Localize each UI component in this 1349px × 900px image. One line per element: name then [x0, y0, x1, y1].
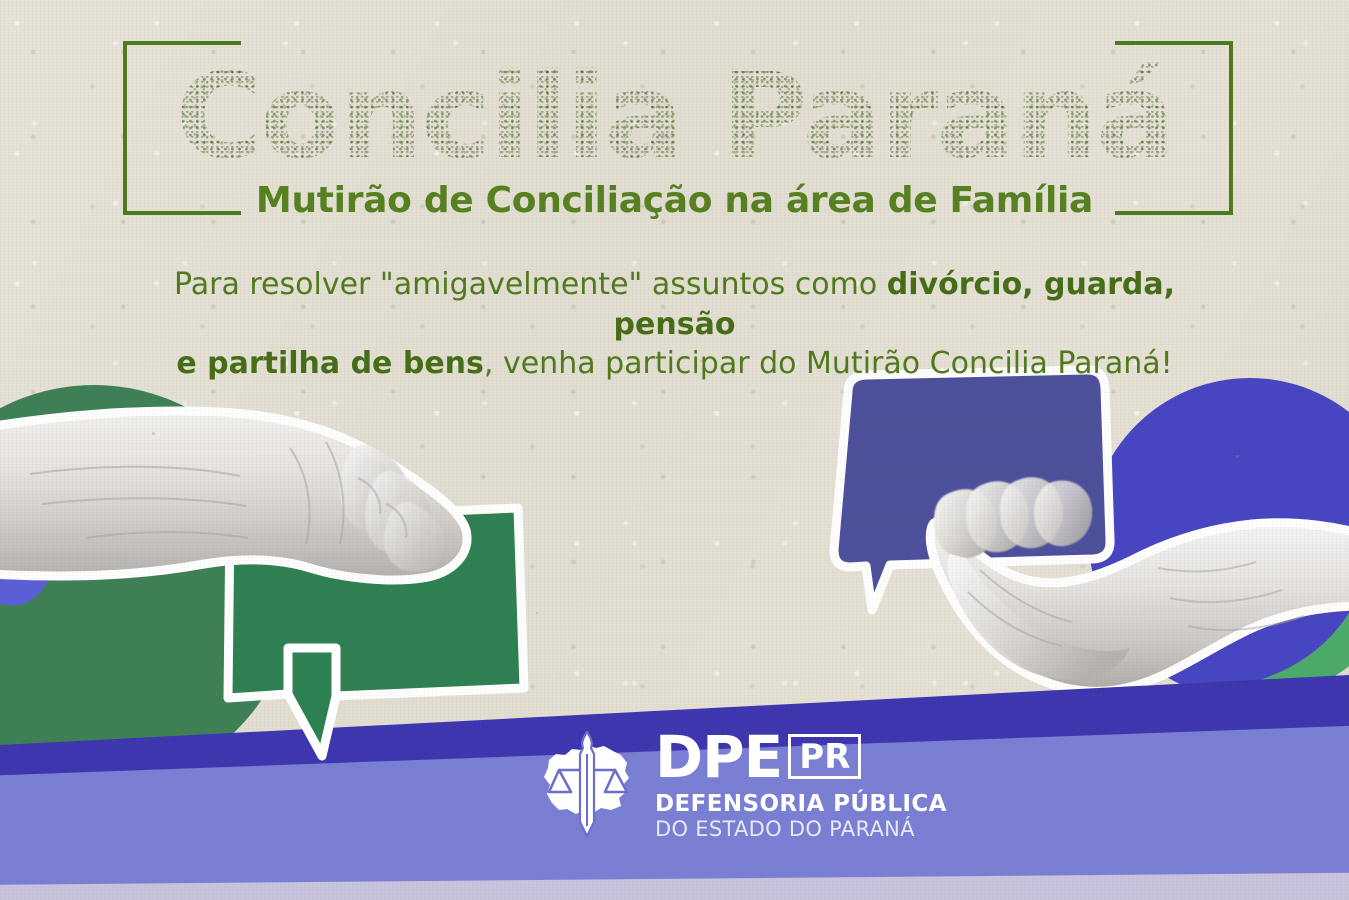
page-subtitle: Mutirão de Conciliação na área de Famíli…	[0, 180, 1349, 221]
body-line2-bold: e partilha de bens	[176, 346, 484, 381]
body-line2-post: , venha participar do Mutirão Concilia P…	[484, 346, 1173, 381]
paper-speck	[152, 432, 155, 435]
dpe-logo: DPE PR DEFENSORIA PÚBLICA DO ESTADO DO P…	[541, 728, 947, 840]
logo-line-do-estado-do-parana: DO ESTADO DO PARANÁ	[655, 819, 947, 840]
logo-line-defensoria-publica: DEFENSORIA PÚBLICA	[655, 793, 947, 816]
paper-speck	[1236, 455, 1239, 458]
pr-state-badge: PR	[788, 734, 861, 779]
page-title: Concilia Paraná	[0, 56, 1349, 176]
poster-canvas: DPE PR DEFENSORIA PÚBLICA DO ESTADO DO P…	[0, 0, 1349, 900]
body-copy: Para resolver "amigavelmente" assuntos c…	[0, 265, 1349, 384]
paper-speck	[700, 360, 702, 362]
dpe-acronym: DPE	[655, 728, 782, 786]
body-line1-pre: Para resolver "amigavelmente" assuntos c…	[174, 267, 887, 302]
title-block: Concilia Paraná Mutirão de Conciliação n…	[0, 56, 1349, 221]
green-speech-bubble-tail-overlay	[218, 498, 538, 768]
parana-map-scales-of-justice-emblem	[541, 730, 633, 838]
